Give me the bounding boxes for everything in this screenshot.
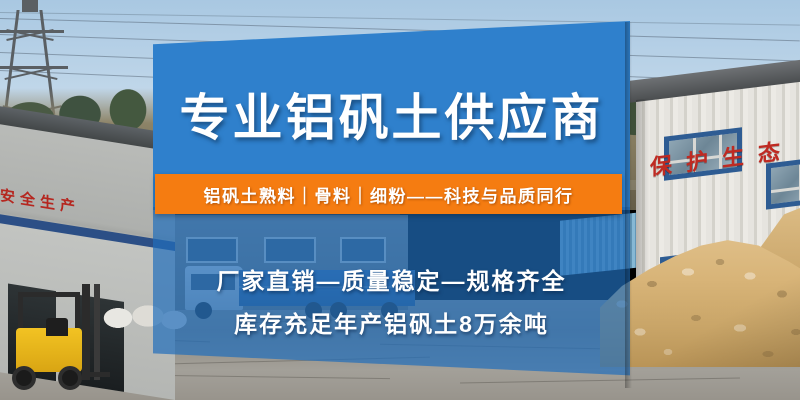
banner-stage: 安全生产 [0, 0, 800, 400]
tagline-bar: 铝矾土熟料｜骨料｜细粉——科技与品质同行 [155, 174, 622, 214]
tagline-text: 铝矾土熟料｜骨料｜细粉——科技与品质同行 [204, 182, 574, 207]
page-title: 专业铝矾土供应商 [153, 78, 630, 150]
subline-1: 厂家直销—质量稳定—规格齐全 [153, 262, 630, 296]
yellow-forklift [10, 284, 102, 394]
subline-2: 库存充足年产铝矾土8万余吨 [153, 305, 630, 339]
